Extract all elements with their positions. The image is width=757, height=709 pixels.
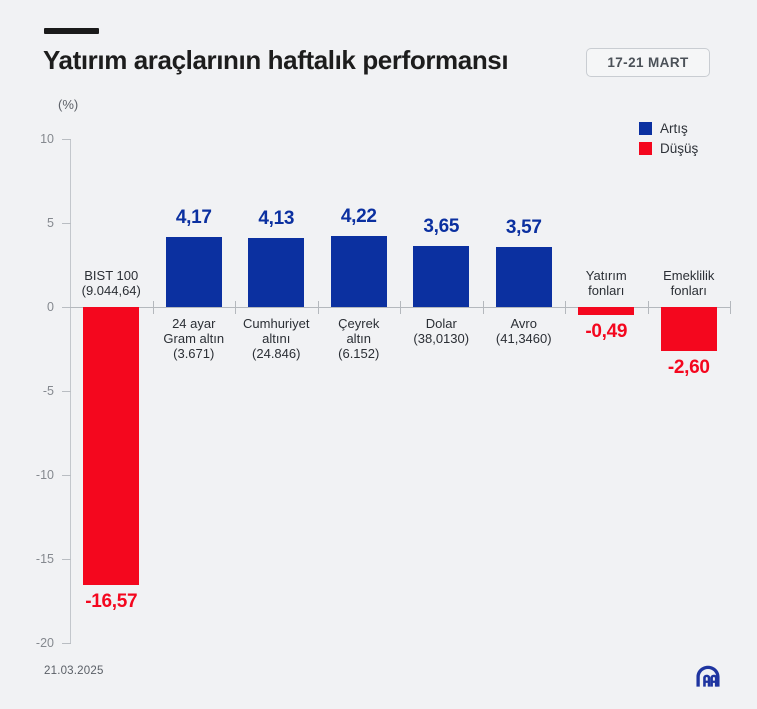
category-label-line: (38,0130): [401, 331, 482, 346]
y-axis-unit-label: (%): [58, 97, 78, 112]
bar-value-label: -0,49: [546, 321, 666, 343]
legend-swatch-icon: [639, 122, 652, 135]
x-axis-category-label: Yatırımfonları: [566, 268, 647, 298]
x-axis-tick-mark: [483, 301, 484, 314]
category-label-line: Cumhuriyet: [236, 316, 317, 331]
y-axis-tick-mark: [62, 307, 71, 308]
x-axis-tick-mark: [730, 301, 731, 314]
x-axis-tick-mark: [153, 301, 154, 314]
bar-value-label: 4,13: [216, 208, 336, 230]
y-axis-tick-mark: [62, 391, 71, 392]
chart-bar: [578, 307, 634, 315]
category-label-line: (3.671): [154, 346, 235, 361]
legend-swatch-icon: [639, 142, 652, 155]
category-label-line: Gram altın: [154, 331, 235, 346]
chart-bar: [248, 238, 304, 307]
y-axis-tick-mark: [62, 475, 71, 476]
x-axis-tick-mark: [235, 301, 236, 314]
category-label-line: BIST 100: [71, 268, 152, 283]
y-axis-tick-mark: [62, 643, 71, 644]
category-label-line: (41,3460): [484, 331, 565, 346]
y-axis-line: [70, 139, 71, 643]
date-range-badge: 17-21 MART: [586, 48, 710, 77]
x-axis-category-label: Çeyrekaltın(6.152): [319, 316, 400, 361]
x-axis-category-label: Avro(41,3460): [484, 316, 565, 346]
x-axis-category-label: Dolar(38,0130): [401, 316, 482, 346]
chart-bar: [331, 236, 387, 307]
chart-bar: [83, 307, 139, 585]
chart-plot-area: 1050-5-10-15-20-16,57BIST 100(9.044,64)4…: [0, 0, 757, 709]
category-label-line: fonları: [566, 283, 647, 298]
category-label-line: Çeyrek: [319, 316, 400, 331]
bar-value-label: 3,57: [464, 217, 584, 239]
category-label-line: fonları: [649, 283, 730, 298]
category-label-line: Avro: [484, 316, 565, 331]
bar-value-label: 4,17: [134, 207, 254, 229]
category-label-line: altın: [319, 331, 400, 346]
bar-value-label: -2,60: [629, 357, 749, 379]
category-label-line: Yatırım: [566, 268, 647, 283]
y-axis-tick-mark: [62, 559, 71, 560]
chart-bar: [661, 307, 717, 351]
x-axis-category-label: Cumhuriyetaltını(24.846): [236, 316, 317, 361]
legend-item-label: Artış: [660, 122, 688, 136]
y-axis-tick-label: -10: [18, 468, 54, 482]
page-title: Yatırım araçlarının haftalık performansı: [43, 45, 508, 76]
y-axis-tick-label: -15: [18, 552, 54, 566]
legend-item: Artış: [639, 122, 698, 136]
category-label-line: altını: [236, 331, 317, 346]
bar-value-label: 4,22: [299, 206, 419, 228]
legend-item-label: Düşüş: [660, 142, 698, 156]
y-axis-tick-label: 0: [18, 300, 54, 314]
category-label-line: (9.044,64): [71, 283, 152, 298]
x-axis-tick-mark: [648, 301, 649, 314]
infographic-root: Yatırım araçlarının haftalık performansı…: [0, 0, 757, 709]
legend-item: Düşüş: [639, 142, 698, 156]
chart-legend: ArtışDüşüş: [639, 122, 698, 161]
y-axis-tick-label: 5: [18, 216, 54, 230]
x-axis-category-label: Emeklilikfonları: [649, 268, 730, 298]
category-label-line: 24 ayar: [154, 316, 235, 331]
zero-baseline: [70, 307, 730, 308]
y-axis-tick-label: 10: [18, 132, 54, 146]
date-range-badge-label: 17-21 MART: [607, 55, 688, 70]
category-label-line: (6.152): [319, 346, 400, 361]
bar-value-label: 3,65: [381, 216, 501, 238]
category-label-line: Emeklilik: [649, 268, 730, 283]
chart-bar: [413, 246, 469, 307]
x-axis-category-label: BIST 100(9.044,64): [71, 268, 152, 298]
x-axis-tick-mark: [318, 301, 319, 314]
x-axis-category-label: 24 ayarGram altın(3.671): [154, 316, 235, 361]
publication-date: 21.03.2025: [44, 665, 104, 677]
chart-bar: [166, 237, 222, 307]
category-label-line: Dolar: [401, 316, 482, 331]
y-axis-tick-label: -5: [18, 384, 54, 398]
category-label-line: (24.846): [236, 346, 317, 361]
x-axis-tick-mark: [400, 301, 401, 314]
bar-value-label: -16,57: [51, 591, 171, 613]
y-axis-tick-mark: [62, 223, 71, 224]
x-axis-tick-mark: [565, 301, 566, 314]
y-axis-tick-mark: [62, 139, 71, 140]
title-accent-bar: [44, 28, 99, 34]
chart-bar: [496, 247, 552, 307]
y-axis-tick-label: -20: [18, 636, 54, 650]
anadolu-agency-logo: [690, 662, 726, 696]
